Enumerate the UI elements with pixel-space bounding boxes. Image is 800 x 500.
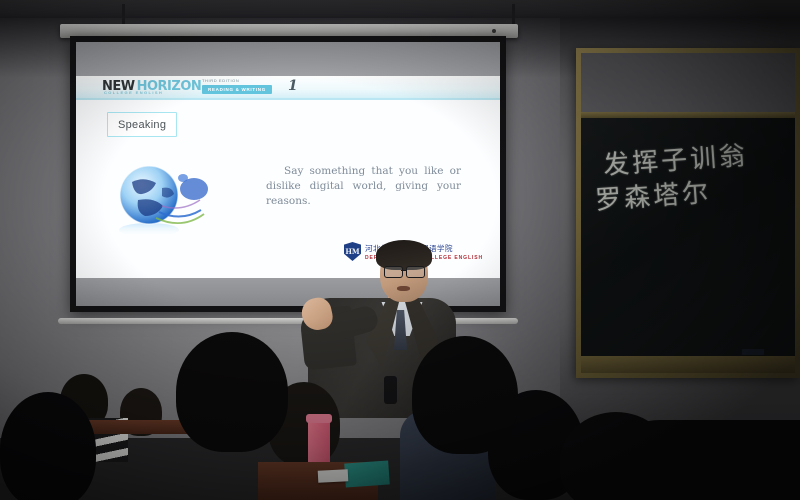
blackboard-upper-panel — [581, 53, 795, 115]
blackboard-chalk-ledge — [581, 356, 795, 373]
brand-subtitle: COLLEGE ENGLISH — [104, 90, 163, 95]
section-label-box: Speaking — [107, 112, 177, 137]
blackboard-eraser — [742, 349, 764, 355]
screen-mount-bracket-left — [122, 4, 125, 26]
screen-band-top — [76, 42, 500, 76]
presentation-remote — [384, 376, 397, 404]
foreground-head-right — [412, 336, 518, 454]
foreground-head-center — [176, 332, 288, 452]
glasses-bridge-icon — [401, 270, 406, 271]
digital-world-globe-icon — [104, 160, 234, 240]
chalk-text-line-2: 罗森塔尔 — [594, 172, 712, 217]
pink-thermos — [308, 420, 330, 466]
brand-skill-tag: READING & WRITING — [202, 85, 272, 94]
header-divider — [76, 98, 500, 100]
presenter-mouth — [397, 286, 410, 291]
blackboard: 发挥子训翁 罗森塔尔 — [576, 48, 800, 378]
foreground-head-far-right — [600, 420, 800, 500]
thermos-cap — [306, 414, 332, 423]
housing-indicator-icon — [492, 29, 496, 33]
slide-prompt-text: Say something that you like or dislike d… — [266, 164, 461, 209]
screen-mount-bracket-right — [512, 4, 515, 26]
glasses-lens-right-icon — [406, 266, 425, 278]
brand-edition: THIRD EDITION — [202, 78, 239, 83]
section-label-text: Speaking — [118, 119, 166, 131]
teal-book — [344, 460, 390, 487]
classroom-photo: NEW HORIZON COLLEGE ENGLISH THIRD EDITIO… — [0, 0, 800, 500]
slide-header: NEW HORIZON COLLEGE ENGLISH THIRD EDITIO… — [76, 76, 500, 100]
glasses-lens-left-icon — [384, 266, 403, 278]
brand-book-number: 1 — [288, 78, 298, 94]
blackboard-writing-surface: 发挥子训翁 罗森塔尔 — [581, 118, 795, 356]
notebook-paper — [318, 469, 349, 483]
foreground-head-left — [0, 392, 96, 500]
